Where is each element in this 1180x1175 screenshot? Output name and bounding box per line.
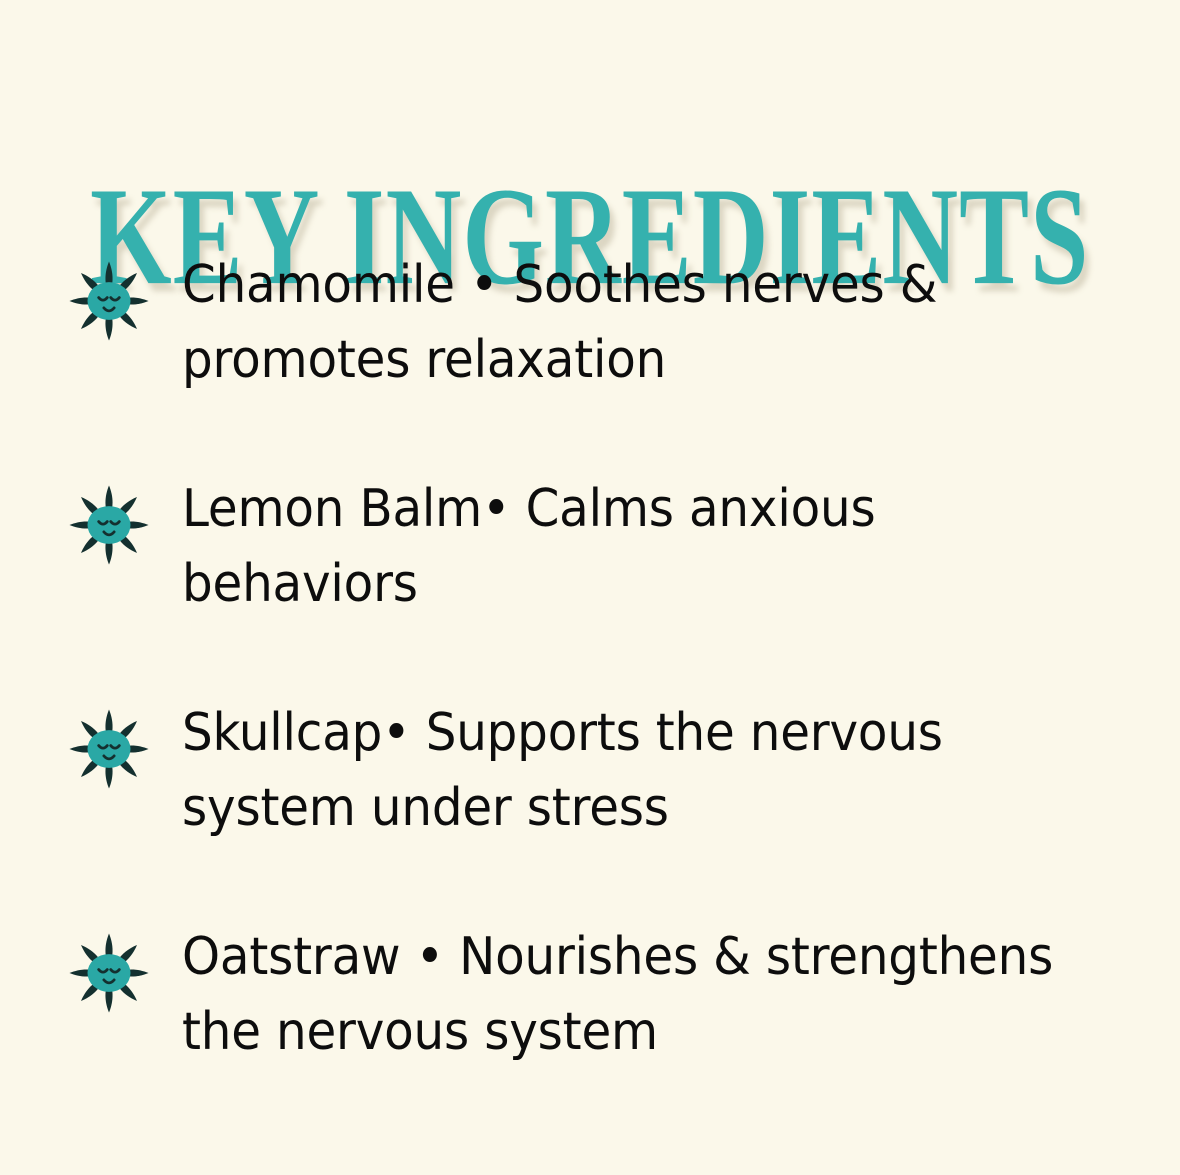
list-item: Skullcap• Supports the nervous system un… <box>66 696 1126 846</box>
list-item-label: Skullcap• Supports the nervous system un… <box>182 696 1060 846</box>
list-item-label: Lemon Balm• Calms anxious behaviors <box>182 472 1060 622</box>
ingredients-list: Chamomile • Soothes nerves & promotes re… <box>66 248 1126 1070</box>
list-item: Oatstraw • Nourishes & strengthens the n… <box>66 920 1126 1070</box>
list-item-label: Chamomile • Soothes nerves & promotes re… <box>182 248 1060 398</box>
smiling-flower-icon <box>66 258 152 344</box>
list-item: Chamomile • Soothes nerves & promotes re… <box>66 248 1126 398</box>
smiling-flower-icon <box>66 482 152 568</box>
key-ingredients-poster: KEY INGREDIENTS <box>0 0 1180 1175</box>
list-item: Lemon Balm• Calms anxious behaviors <box>66 472 1126 622</box>
list-item-label: Oatstraw • Nourishes & strengthens the n… <box>182 920 1060 1070</box>
smiling-flower-icon <box>66 706 152 792</box>
smiling-flower-icon <box>66 930 152 1016</box>
